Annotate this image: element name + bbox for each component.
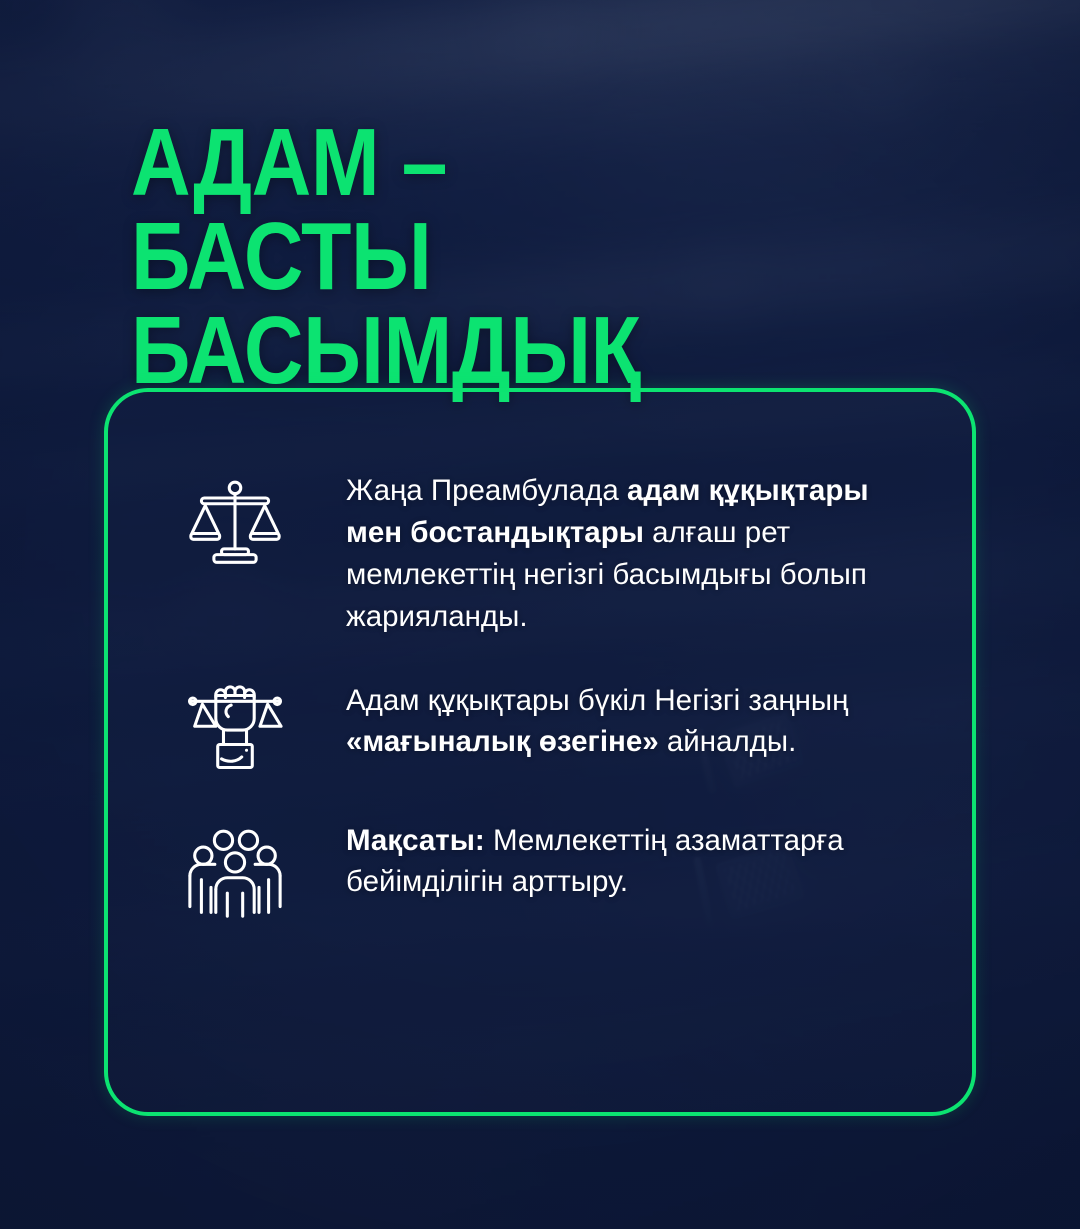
scales-of-justice-icon [186,470,284,568]
page-title: АДАМ – БАСТЫ БАСЫМДЫҚ [131,116,733,398]
list-item: Мақсаты: Мемлекеттің азаматтарға бейімді… [186,820,928,918]
list-item-text: Адам құқықтары бүкіл Негізгі заңның «мағ… [346,680,928,764]
list-item: Адам құқықтары бүкіл Негізгі заңның «мағ… [186,680,928,778]
list-item-text: Жаңа Преамбулада адам құқықтары мен бост… [346,470,928,638]
raised-fist-with-scales-icon [186,680,284,778]
list-item: Жаңа Преамбулада адам құқықтары мен бост… [186,470,928,638]
group-of-people-icon [186,820,284,918]
list-item-text: Мақсаты: Мемлекеттің азаматтарға бейімді… [346,820,928,904]
bullet-list: Жаңа Преамбулада адам құқықтары мен бост… [186,470,928,918]
content-card: Жаңа Преамбулада адам құқықтары мен бост… [104,388,976,1116]
infographic-poster: АДАМ – БАСТЫ БАСЫМДЫҚ [0,0,1080,1229]
